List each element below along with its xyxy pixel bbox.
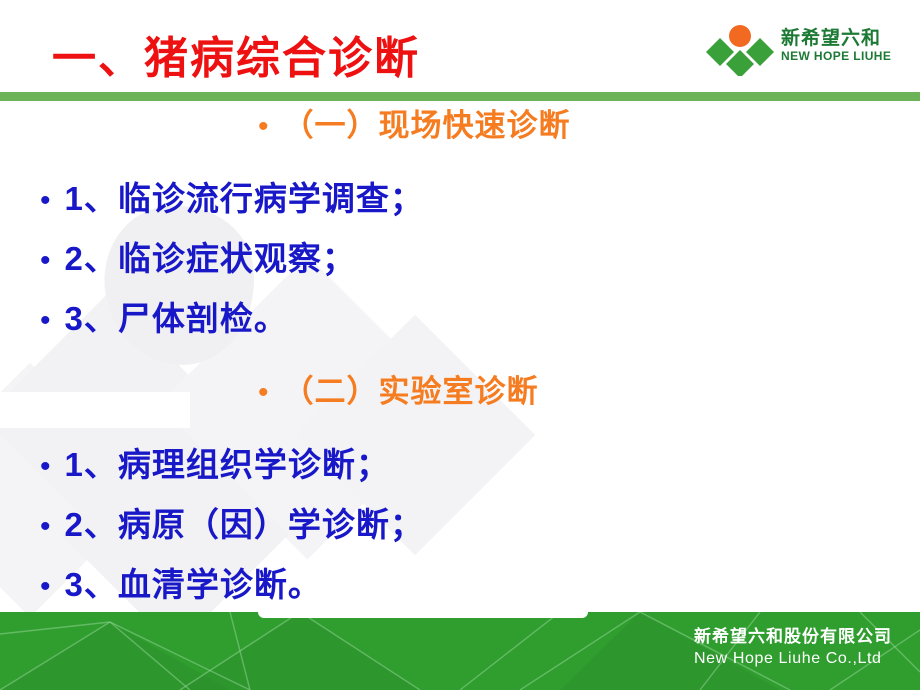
company-logo: 新希望六和 NEW HOPE LIUHE: [703, 20, 903, 78]
bullet-icon: •: [258, 378, 269, 408]
bullet-icon: •: [40, 246, 51, 276]
list-item: • 3、尸体剖检。: [0, 292, 920, 352]
slide-footer: 新希望六和股份有限公司 New Hope Liuhe Co.,Ltd: [0, 612, 920, 690]
bullet-icon: •: [40, 512, 51, 542]
list-item: • 2、病原（因）学诊断；: [0, 498, 920, 558]
footer-notch: [258, 612, 588, 618]
section-heading-1-label: （一）现场快速诊断: [283, 100, 571, 145]
section-heading-1: • （一）现场快速诊断: [0, 100, 920, 160]
spacer: [0, 352, 920, 366]
list-item-label: 1、临诊流行病学调查；: [65, 172, 424, 220]
bullet-icon: •: [258, 112, 269, 142]
spacer: [0, 160, 920, 172]
list-item: • 1、临诊流行病学调查；: [0, 172, 920, 232]
logo-text-cn: 新希望六和: [781, 28, 901, 49]
list-item-label: 3、血清学诊断。: [65, 558, 322, 606]
bullet-icon: •: [40, 572, 51, 602]
list-item-label: 1、病理组织学诊断；: [65, 438, 390, 486]
list-item: • 3、血清学诊断。: [0, 558, 920, 618]
slide: 一、猪病综合诊断 新希望六和 NEW HOPE LIUHE • （一）现场快速诊…: [0, 0, 920, 690]
list-item-label: 2、临诊症状观察；: [65, 232, 356, 280]
page-title: 一、猪病综合诊断: [52, 22, 420, 86]
logo-text-en: NEW HOPE LIUHE: [781, 49, 901, 63]
list-item: • 2、临诊症状观察；: [0, 232, 920, 292]
footer-company-cn: 新希望六和股份有限公司: [694, 626, 892, 648]
list-item-label: 2、病原（因）学诊断；: [65, 498, 424, 546]
list-item: • 1、病理组织学诊断；: [0, 438, 920, 498]
section-heading-2: • （二）实验室诊断: [0, 366, 920, 426]
bullet-icon: •: [40, 186, 51, 216]
bullet-icon: •: [40, 452, 51, 482]
logo-mark-icon: [703, 22, 777, 76]
footer-company: 新希望六和股份有限公司 New Hope Liuhe Co.,Ltd: [694, 626, 892, 670]
slide-content: • （一）现场快速诊断 • 1、临诊流行病学调查； • 2、临诊症状观察； • …: [0, 100, 920, 618]
section-heading-2-label: （二）实验室诊断: [283, 366, 539, 411]
list-item-label: 3、尸体剖检。: [65, 292, 288, 340]
spacer: [0, 426, 920, 438]
footer-company-en: New Hope Liuhe Co.,Ltd: [694, 648, 892, 670]
logo-text: 新希望六和 NEW HOPE LIUHE: [781, 28, 901, 63]
bullet-icon: •: [40, 306, 51, 336]
